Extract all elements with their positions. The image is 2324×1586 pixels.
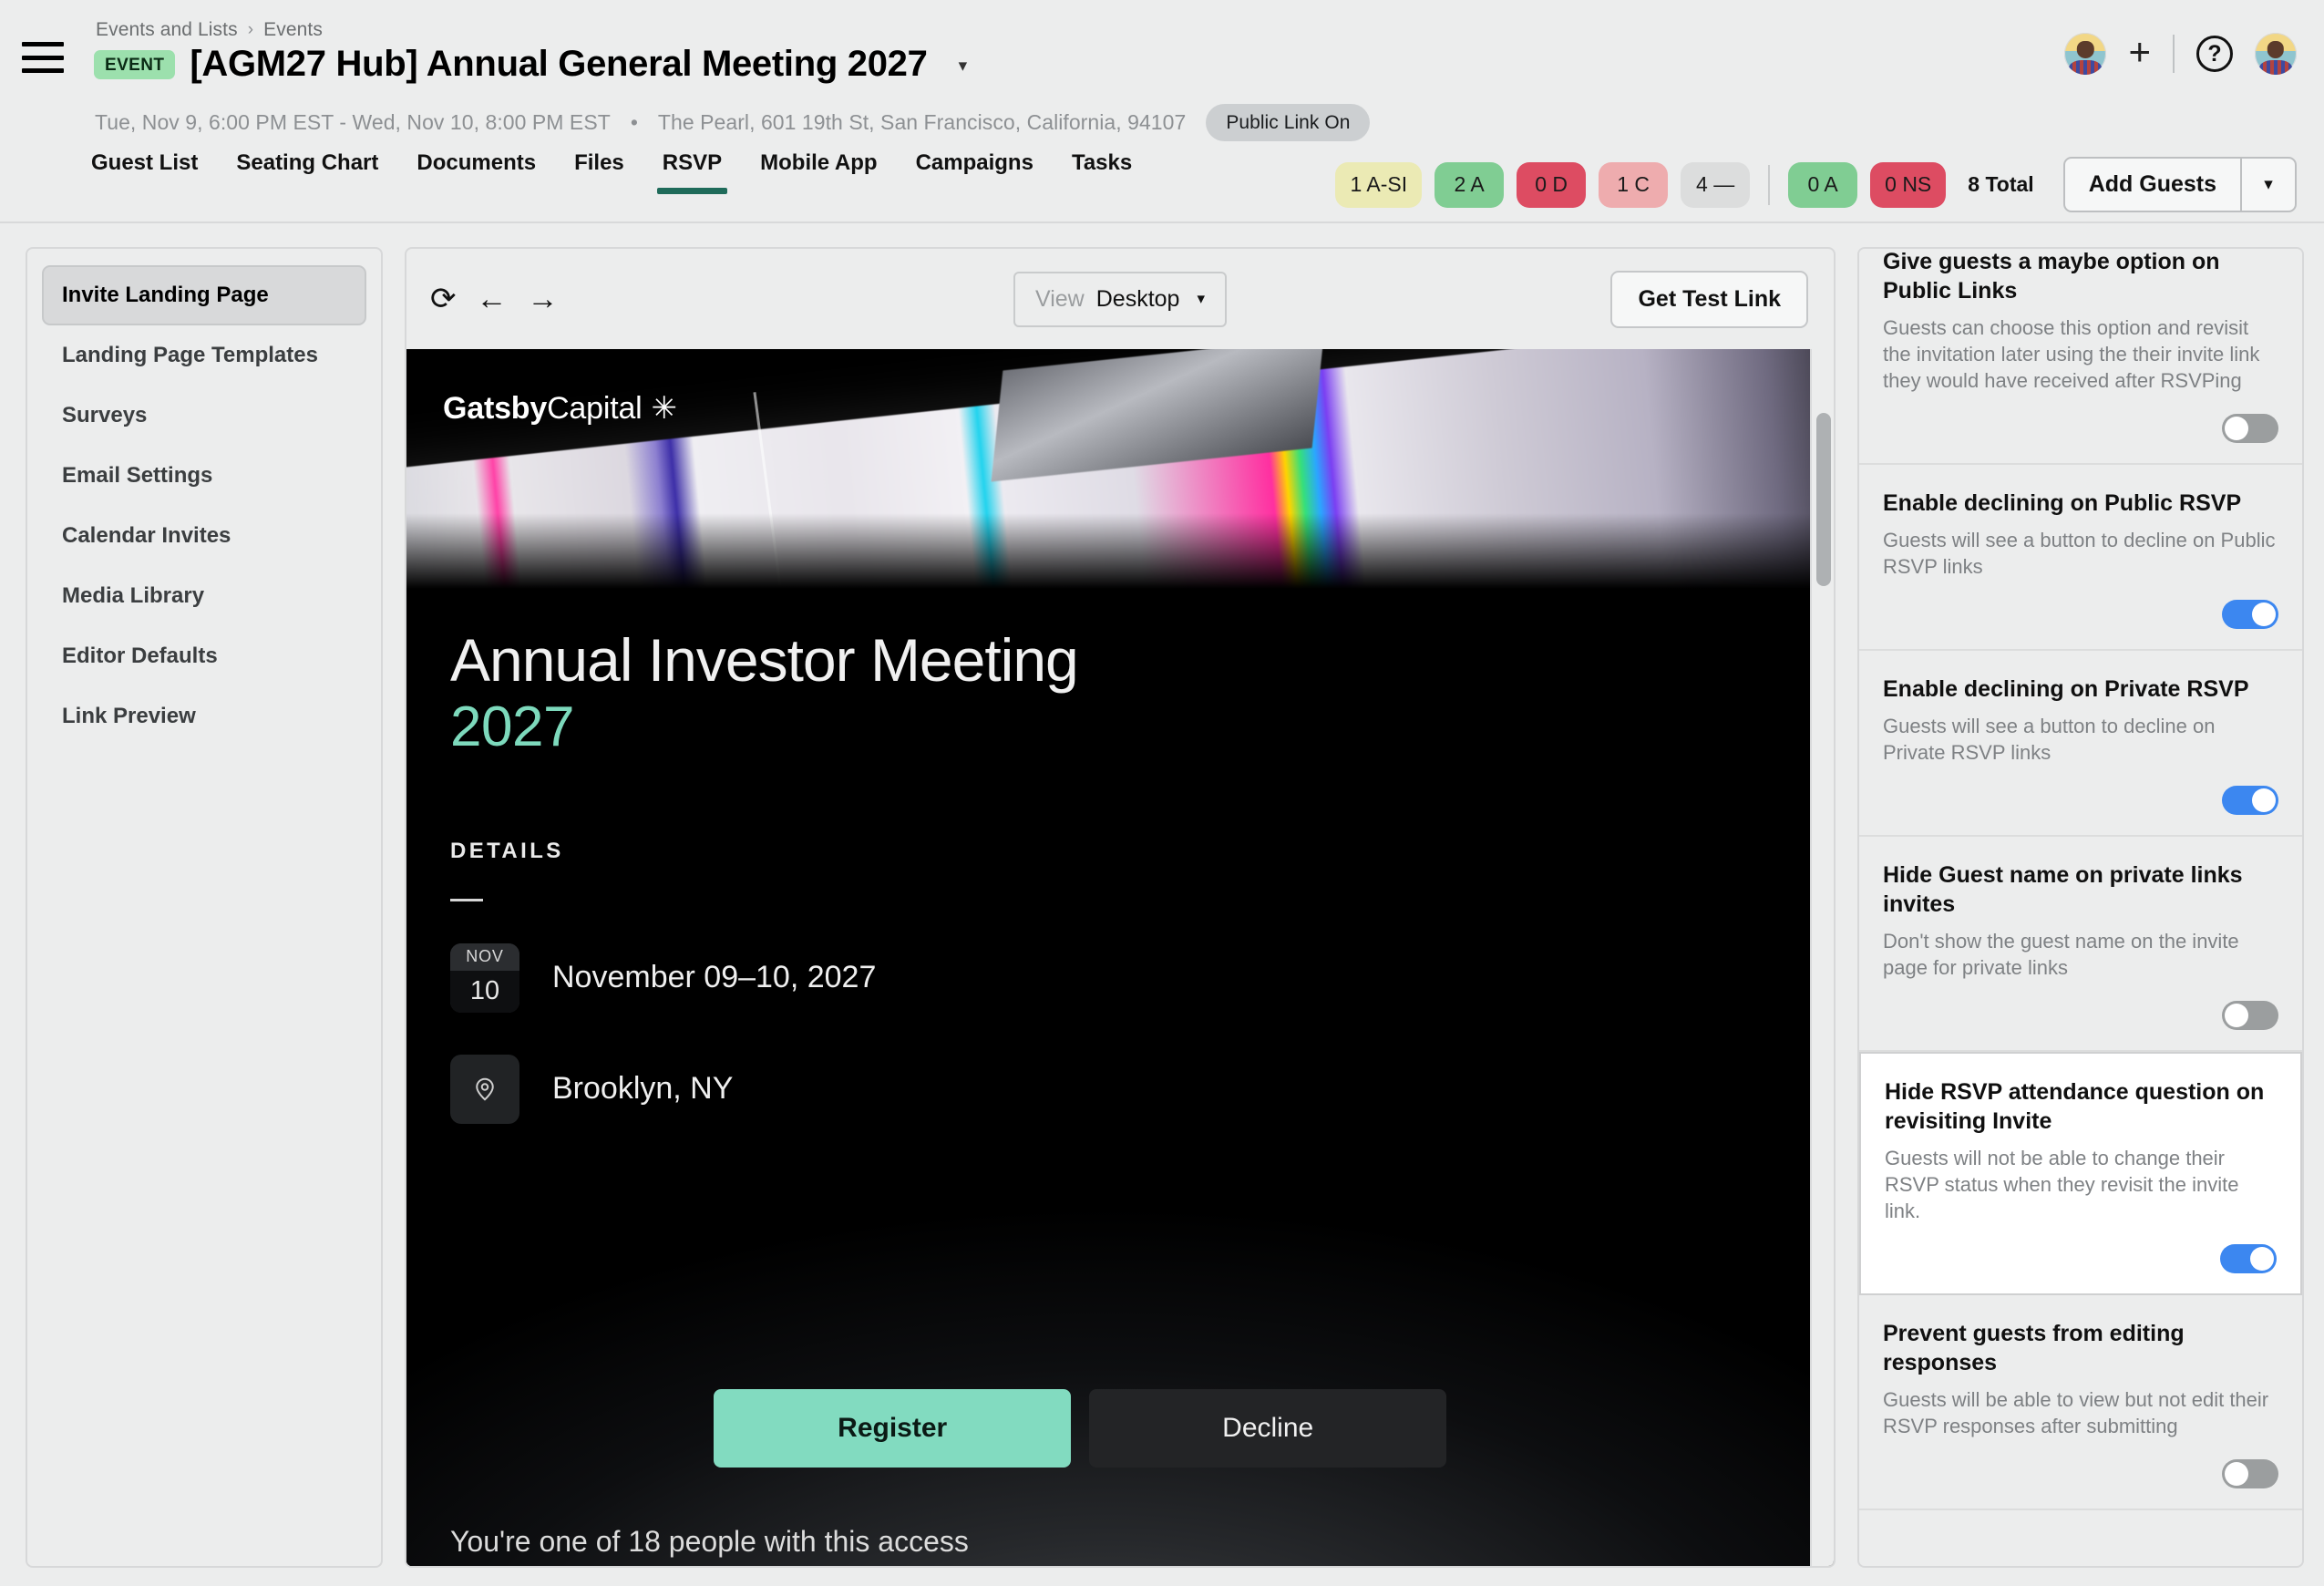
sidebar-item-email-settings[interactable]: Email Settings [42,446,366,506]
event-type-badge: EVENT [94,50,175,79]
details-divider [450,899,483,901]
view-mode-label: View [1035,286,1085,313]
page-title: [AGM27 Hub] Annual General Meeting 2027 [190,44,927,85]
hero-gradient-overlay [406,513,1810,595]
setting-title: Enable declining on Private RSVP [1883,675,2278,704]
setting-toggle-row [1883,414,2278,443]
calendar-month-label: NOV [450,943,519,971]
add-guests-button[interactable]: Add Guests [2065,159,2240,211]
invite-landing-page: GatsbyCapital✳ Annual Investor Meeting 2… [406,349,1810,1566]
public-link-status-badge[interactable]: Public Link On [1206,104,1370,141]
brand-logo: GatsbyCapital✳ [443,390,677,427]
status-badge[interactable]: 1 A-SI [1335,162,1422,208]
primary-tabs: Guest ListSeating ChartDocumentsFilesRSV… [91,150,1132,194]
rsvp-sidebar: Invite Landing PageLanding Page Template… [26,247,383,1568]
rsvp-settings-panel: Give guests a maybe option on Public Lin… [1857,247,2304,1568]
user-avatar[interactable] [2255,33,2297,75]
setting-title: Prevent guests from editing responses [1883,1319,2278,1377]
tab-documents[interactable]: Documents [416,150,536,194]
setting-description: Guests will be able to view but not edit… [1883,1386,2278,1439]
setting-toggle[interactable] [2222,1459,2278,1488]
tab-guest-list[interactable]: Guest List [91,150,198,194]
app-header: Events and Lists › Events EVENT [AGM27 H… [0,0,2324,223]
view-mode-select[interactable]: View Desktop ▾ [1013,272,1227,327]
setting-toggle-row [1883,600,2278,629]
event-subtitle: Tue, Nov 9, 6:00 PM EST - Wed, Nov 10, 8… [95,104,1370,141]
setting-description: Guests will see a button to decline on P… [1883,713,2278,766]
asterisk-icon: ✳ [652,391,677,426]
preview-stage: GatsbyCapital✳ Annual Investor Meeting 2… [406,349,1834,1566]
help-icon[interactable]: ? [2196,36,2233,72]
page-title-row: EVENT [AGM27 Hub] Annual General Meeting… [94,44,967,85]
preview-nav-controls: ⟳ ← → [430,283,559,314]
tab-rsvp[interactable]: RSVP [663,150,722,194]
view-mode-value: Desktop [1096,286,1180,313]
setting-description: Guests will see a button to decline on P… [1883,527,2278,580]
forward-arrow-icon[interactable]: → [528,283,559,314]
collaborator-avatar[interactable] [2064,33,2106,75]
tab-seating-chart[interactable]: Seating Chart [236,150,378,194]
toggle-knob [2252,788,2276,812]
setting-toggle[interactable] [2222,414,2278,443]
event-location: The Pearl, 601 19th St, San Francisco, C… [658,110,1186,135]
sidebar-item-landing-page-templates[interactable]: Landing Page Templates [42,325,366,386]
invite-hero-image [406,349,1810,595]
invite-location-row: Brooklyn, NY [450,1055,1766,1124]
brand-name-thin: Capital [547,391,642,426]
sidebar-item-invite-landing-page[interactable]: Invite Landing Page [42,265,366,325]
status-badge[interactable]: 1 C [1599,162,1668,208]
breadcrumb-separator-icon: › [248,20,253,40]
badge-group-divider [1768,165,1770,205]
toggle-knob [2225,417,2248,440]
sidebar-item-calendar-invites[interactable]: Calendar Invites [42,506,366,566]
main-content: Invite Landing PageLanding Page Template… [0,223,2324,1586]
invite-preview-panel: ⟳ ← → View Desktop ▾ Get Test Link [405,247,1836,1568]
invite-location-text: Brooklyn, NY [552,1071,733,1107]
register-button[interactable]: Register [714,1389,1071,1468]
back-arrow-icon[interactable]: ← [477,283,508,314]
setting-title: Give guests a maybe option on Public Lin… [1883,247,2278,305]
invite-date-row: NOV 10 November 09–10, 2027 [450,943,1766,1013]
calendar-date-icon: NOV 10 [450,943,519,1013]
rsvp-status-badges: 1 A-SI2 A0 D1 C4 — [1335,162,1750,208]
preview-scrollbar[interactable] [1810,349,1834,1566]
event-datetime: Tue, Nov 9, 6:00 PM EST - Wed, Nov 10, 8… [95,110,611,135]
get-test-link-button[interactable]: Get Test Link [1610,271,1808,328]
setting-description: Guests can choose this option and revisi… [1883,314,2278,394]
tab-mobile-app[interactable]: Mobile App [760,150,877,194]
setting-toggle-row [1883,786,2278,815]
status-badge[interactable]: 2 A [1435,162,1504,208]
tab-tasks[interactable]: Tasks [1072,150,1132,194]
setting-toggle[interactable] [2220,1244,2277,1273]
header-actions: + ? [2064,33,2297,75]
chevron-down-icon[interactable]: ▾ [959,56,968,77]
setting-toggle[interactable] [2222,1001,2278,1030]
add-guests-group: Add Guests ▾ [2063,157,2297,212]
sidebar-item-link-preview[interactable]: Link Preview [42,686,366,747]
setting-description: Don't show the guest name on the invite … [1883,928,2278,981]
invite-date-text: November 09–10, 2027 [552,960,876,995]
view-mode-chevron-down-icon: ▾ [1197,290,1205,308]
setting-card: Enable declining on Private RSVPGuests w… [1859,651,2302,837]
setting-card: Prevent guests from editing responsesGue… [1859,1295,2302,1510]
preview-toolbar: ⟳ ← → View Desktop ▾ Get Test Link [406,249,1834,349]
add-icon[interactable]: + [2128,33,2151,71]
setting-description: Guests will not be able to change their … [1885,1145,2277,1224]
toggle-knob [2225,1004,2248,1027]
setting-card: Enable declining on Public RSVPGuests wi… [1859,465,2302,651]
header-divider [2173,35,2175,73]
subtitle-separator: • [631,110,638,135]
tab-campaigns[interactable]: Campaigns [916,150,1033,194]
location-pin-icon [450,1055,519,1124]
guest-status-cluster: 1 A-SI2 A0 D1 C4 — 0 A0 NS 8 Total Add G… [1335,157,2297,212]
breadcrumb: Events and Lists › Events [96,19,323,41]
hamburger-menu-icon[interactable] [22,42,64,73]
status-badge[interactable]: 0 A [1788,162,1857,208]
setting-toggle-row [1883,1459,2278,1488]
setting-card: Give guests a maybe option on Public Lin… [1859,247,2302,465]
invite-access-note: You're one of 18 people with this access [450,1525,969,1559]
sidebar-item-editor-defaults[interactable]: Editor Defaults [42,626,366,686]
preview-scrollbar-thumb[interactable] [1816,413,1831,586]
breadcrumb-item-events[interactable]: Events [263,19,323,41]
toggle-knob [2252,602,2276,626]
refresh-icon[interactable]: ⟳ [430,283,457,314]
attendance-status-badges: 0 A0 NS [1788,162,1946,208]
status-badge[interactable]: 4 — [1681,162,1750,208]
brand-name-bold: Gatsby [443,391,547,426]
invite-year: 2027 [450,695,1766,759]
setting-toggle-row [1885,1244,2277,1273]
decline-button[interactable]: Decline [1089,1389,1446,1468]
total-guests-label: 8 Total [1968,172,2033,197]
add-guests-chevron-down-icon[interactable]: ▾ [2240,159,2295,211]
tab-files[interactable]: Files [574,150,624,194]
setting-card: Hide RSVP attendance question on revisit… [1859,1052,2302,1295]
sidebar-item-media-library[interactable]: Media Library [42,566,366,626]
calendar-day-label: 10 [450,971,519,1013]
settings-list: Give guests a maybe option on Public Lin… [1859,247,2302,1566]
setting-toggle[interactable] [2222,786,2278,815]
status-badge[interactable]: 0 NS [1870,162,1946,208]
setting-title: Hide Guest name on private links invites [1883,860,2278,919]
setting-card: Hide Guest name on private links invites… [1859,837,2302,1052]
toggle-knob [2250,1247,2274,1271]
setting-toggle-row [1883,1001,2278,1030]
status-badge[interactable]: 0 D [1517,162,1586,208]
invite-title: Annual Investor Meeting [450,628,1766,693]
sidebar-item-surveys[interactable]: Surveys [42,386,366,446]
details-heading: DETAILS [450,839,1766,864]
breadcrumb-item-events-and-lists[interactable]: Events and Lists [96,19,238,41]
toggle-knob [2225,1462,2248,1486]
setting-title: Enable declining on Public RSVP [1883,489,2278,518]
setting-title: Hide RSVP attendance question on revisit… [1885,1077,2277,1136]
setting-toggle[interactable] [2222,600,2278,629]
invite-cta-row: Register Decline [714,1389,1446,1468]
